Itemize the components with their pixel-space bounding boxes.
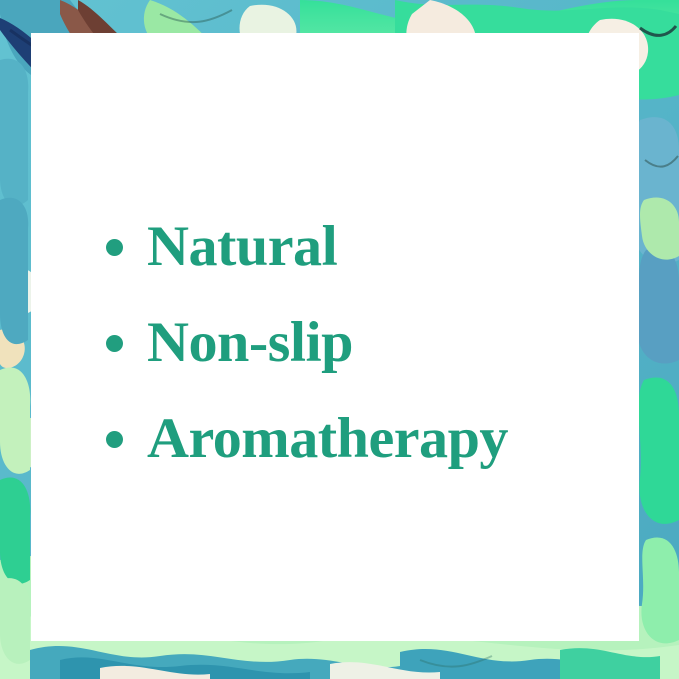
bullet-dot-icon	[106, 431, 123, 448]
list-item: Aromatherapy	[106, 390, 626, 486]
feature-label-non-slip: Non-slip	[147, 314, 353, 371]
list-item: Non-slip	[106, 294, 626, 390]
feature-label-aromatherapy: Aromatherapy	[147, 410, 508, 467]
bullet-dot-icon	[106, 335, 123, 352]
white-content-card: Natural Non-slip Aromatherapy	[31, 33, 639, 641]
feature-list: Natural Non-slip Aromatherapy	[106, 198, 626, 486]
bullet-dot-icon	[106, 239, 123, 256]
list-item: Natural	[106, 198, 626, 294]
product-feature-graphic: Natural Non-slip Aromatherapy	[0, 0, 679, 679]
feature-label-natural: Natural	[147, 218, 337, 275]
